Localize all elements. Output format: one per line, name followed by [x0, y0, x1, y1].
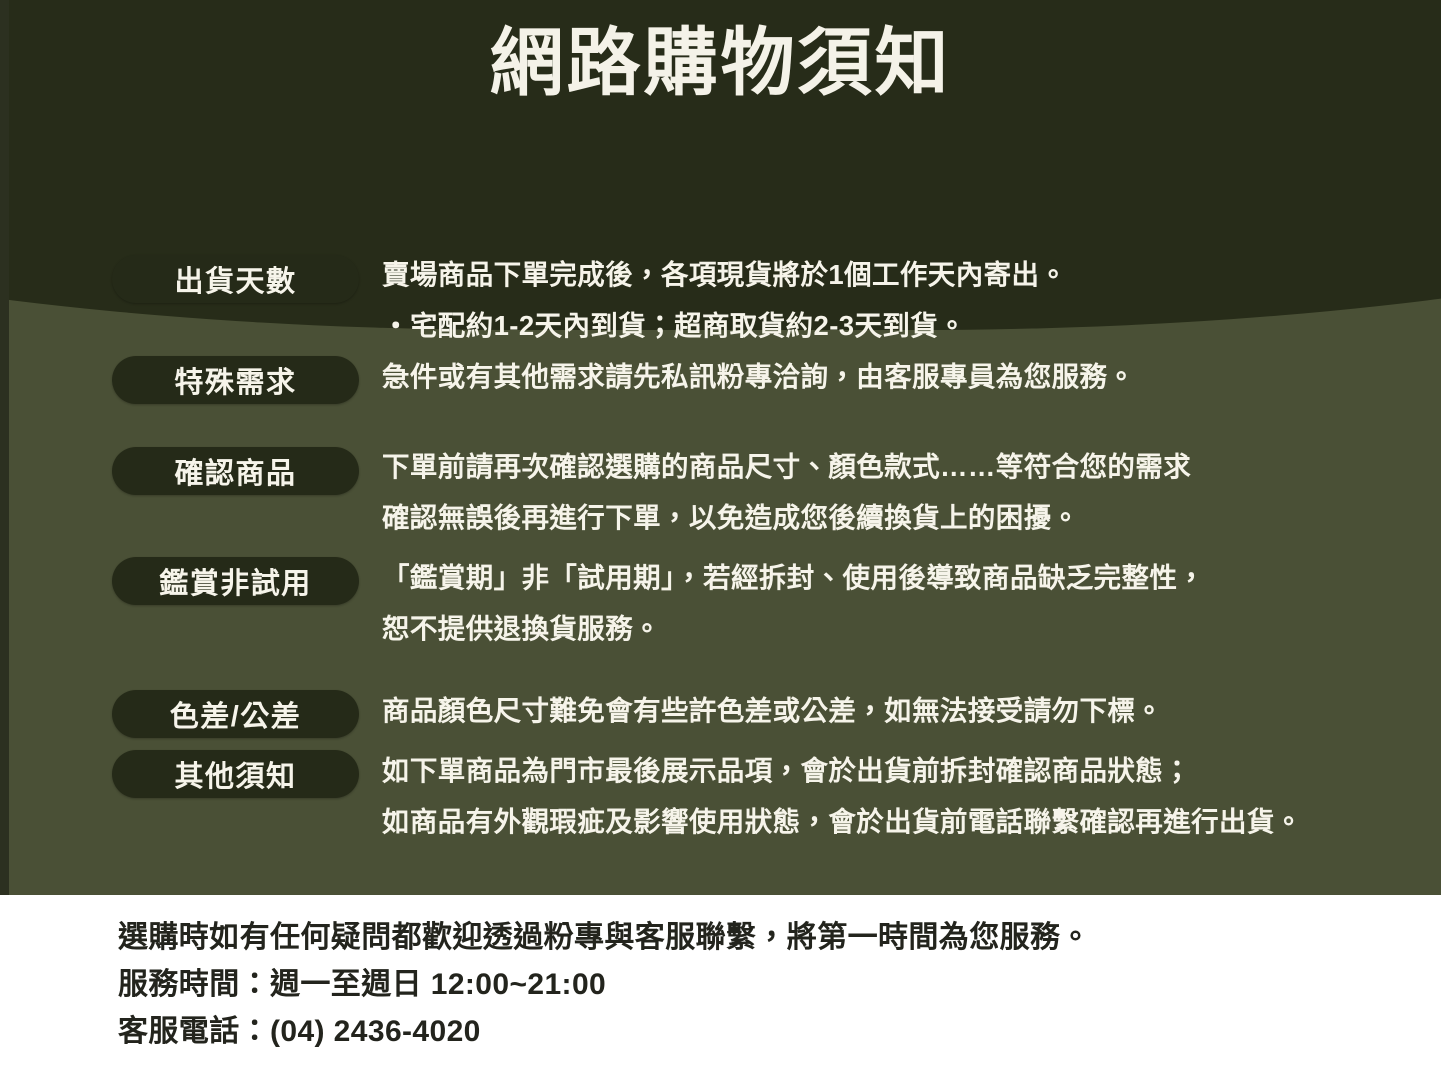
- green-panel: 網路購物須知 出貨天數賣場商品下單完成後，各項現貨將於1個工作天內寄出。・宅配約…: [0, 0, 1441, 895]
- footer-contact-panel: 選購時如有任何疑問都歡迎透過粉專與客服聯繫，將第一時間為您服務。服務時間：週一至…: [0, 895, 1441, 1080]
- notice-body-line: 下單前請再次確認選購的商品尺寸、顏色款式……等符合您的需求: [382, 441, 1427, 492]
- notice-body-text: 下單前請再次確認選購的商品尺寸、顏色款式……等符合您的需求確認無誤後再進行下單，…: [382, 441, 1427, 543]
- footer-phone-number[interactable]: 客服電話：(04) 2436-4020: [118, 1008, 1418, 1055]
- notice-body-line: 急件或有其他需求請先私訊粉專洽詢，由客服專員為您服務。: [382, 351, 1427, 402]
- notice-body-text: 急件或有其他需求請先私訊粉專洽詢，由客服專員為您服務。: [382, 351, 1427, 402]
- notice-category-pill: 確認商品: [112, 447, 359, 495]
- notice-category-pill: 色差/公差: [112, 690, 359, 738]
- notice-body-text: 商品顏色尺寸難免會有些許色差或公差，如無法接受請勿下標。: [382, 685, 1427, 736]
- footer-service-hours: 服務時間：週一至週日 12:00~21:00: [118, 961, 1418, 1008]
- notice-body-line: 賣場商品下單完成後，各項現貨將於1個工作天內寄出。: [382, 249, 1427, 300]
- notice-body-text: 如下單商品為門市最後展示品項，會於出貨前拆封確認商品狀態；如商品有外觀瑕疵及影響…: [382, 745, 1427, 847]
- notice-body-line: 恕不提供退換貨服務。: [382, 603, 1427, 654]
- notice-body-line: 「鑑賞期」非「試用期」，若經拆封、使用後導致商品缺乏完整性，: [382, 552, 1427, 603]
- notice-body-text: 「鑑賞期」非「試用期」，若經拆封、使用後導致商品缺乏完整性，恕不提供退換貨服務。: [382, 552, 1427, 654]
- notice-category-pill: 特殊需求: [112, 356, 359, 404]
- footer-contact-note: 選購時如有任何疑問都歡迎透過粉專與客服聯繫，將第一時間為您服務。: [118, 914, 1418, 961]
- notice-page: 網路購物須知 出貨天數賣場商品下單完成後，各項現貨將於1個工作天內寄出。・宅配約…: [0, 0, 1441, 1080]
- notice-section-list: 出貨天數賣場商品下單完成後，各項現貨將於1個工作天內寄出。・宅配約1-2天內到貨…: [0, 0, 1441, 895]
- left-edge-strip: [0, 0, 9, 895]
- notice-body-line: ・宅配約1-2天內到貨；超商取貨約2-3天到貨。: [382, 300, 1427, 351]
- notice-category-pill: 鑑賞非試用: [112, 557, 359, 605]
- notice-category-pill: 其他須知: [112, 750, 359, 798]
- notice-body-line: 如商品有外觀瑕疵及影響使用狀態，會於出貨前電話聯繫確認再進行出貨。: [382, 796, 1427, 847]
- notice-body-text: 賣場商品下單完成後，各項現貨將於1個工作天內寄出。・宅配約1-2天內到貨；超商取…: [382, 249, 1427, 351]
- footer-lines: 選購時如有任何疑問都歡迎透過粉專與客服聯繫，將第一時間為您服務。服務時間：週一至…: [118, 914, 1418, 1055]
- notice-body-line: 如下單商品為門市最後展示品項，會於出貨前拆封確認商品狀態；: [382, 745, 1427, 796]
- notice-body-line: 確認無誤後再進行下單，以免造成您後續換貨上的困擾。: [382, 492, 1427, 543]
- notice-body-line: 商品顏色尺寸難免會有些許色差或公差，如無法接受請勿下標。: [382, 685, 1427, 736]
- notice-category-pill: 出貨天數: [112, 255, 359, 303]
